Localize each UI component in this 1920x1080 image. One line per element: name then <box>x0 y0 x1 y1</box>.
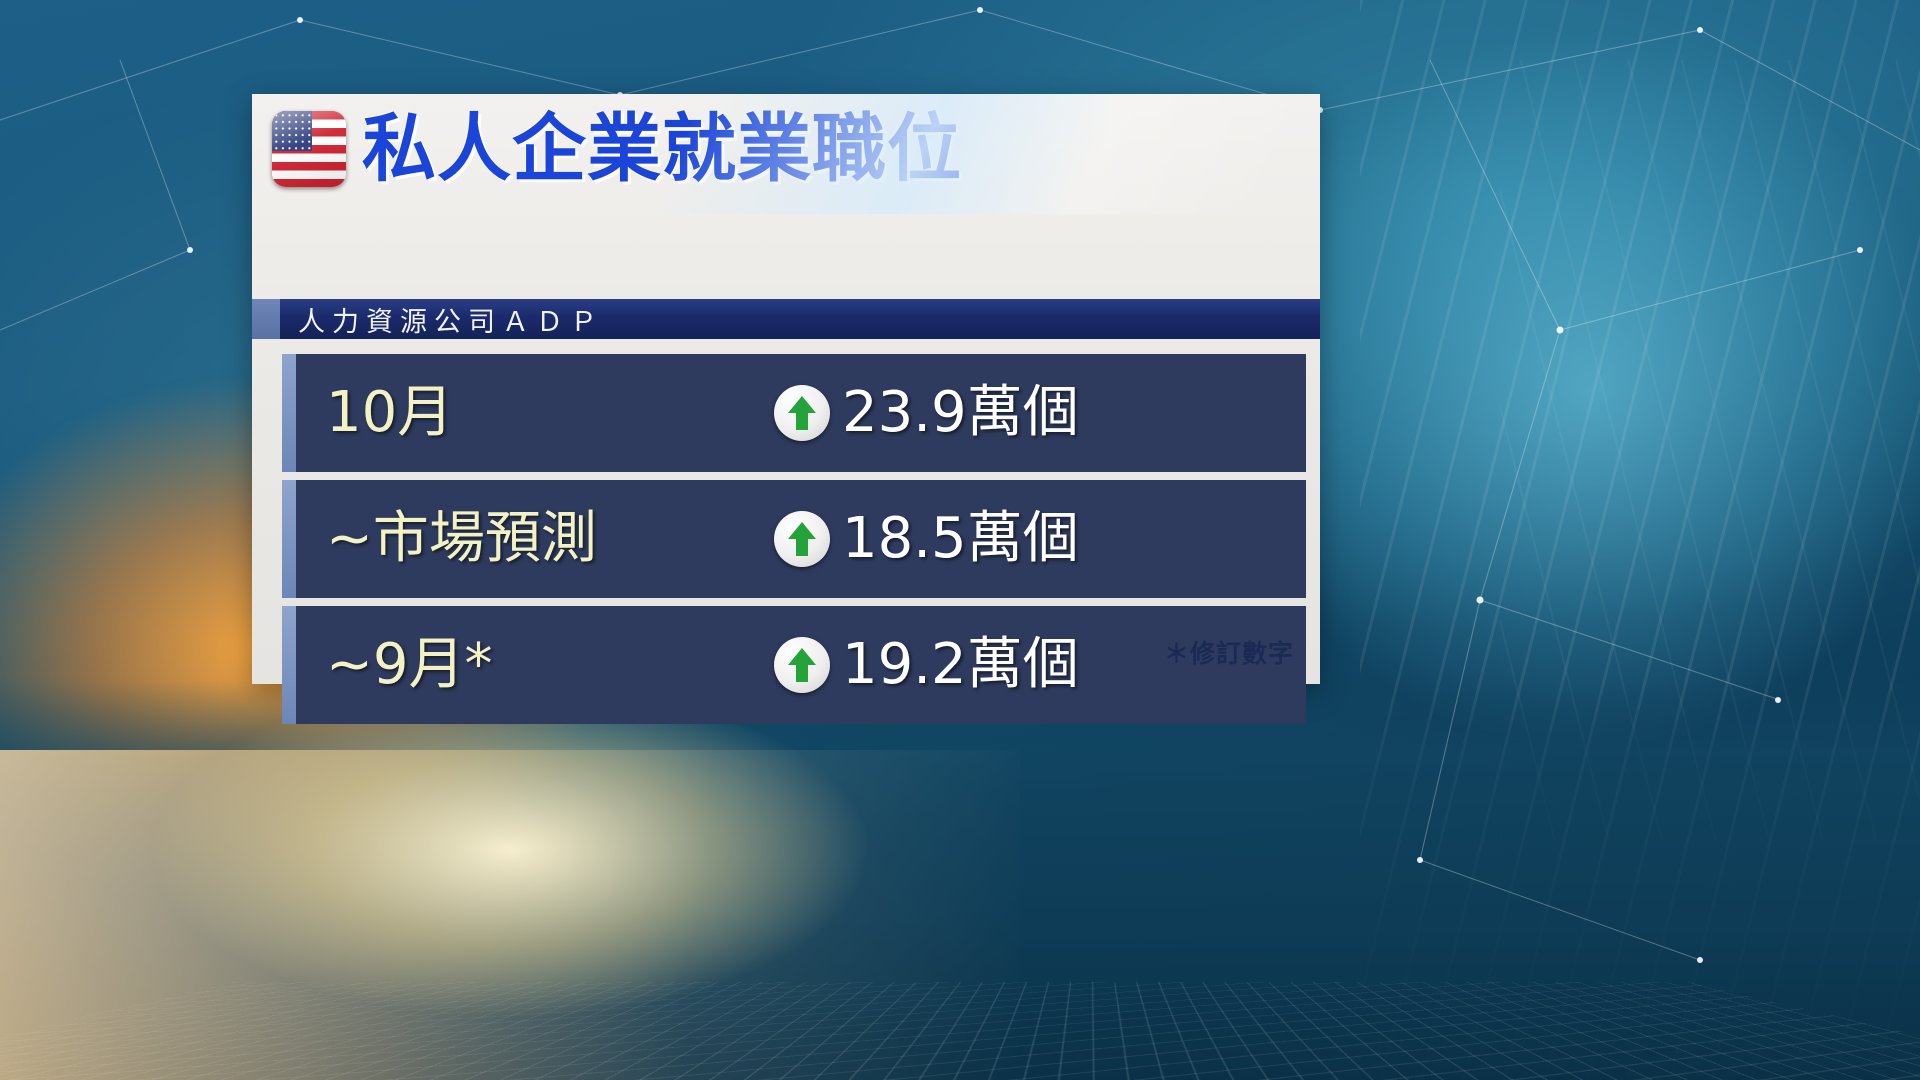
subtitle-bar: 人力資源公司ＡＤＰ <box>252 299 1320 339</box>
subtitle-label: 人力資源公司ＡＤＰ <box>298 300 604 339</box>
info-panel: 私人企業就業職位 人力資源公司ＡＤＰ 10月 23.9萬個 ~市場預測 <box>252 94 1320 684</box>
row-label: ~市場預測 <box>326 509 597 569</box>
row-label: ~9月* <box>326 635 493 695</box>
row-amount: 18.5萬個 <box>842 509 1079 569</box>
row-amount: 19.2萬個 <box>842 635 1079 695</box>
footnote: ＊修訂數字 <box>1164 634 1294 670</box>
up-arrow-icon <box>774 385 830 441</box>
row-value-group: 18.5萬個 <box>774 509 1079 569</box>
table-row: ~市場預測 18.5萬個 <box>282 480 1306 598</box>
row-amount: 23.9萬個 <box>842 383 1079 443</box>
up-arrow-icon <box>774 511 830 567</box>
data-rows: 10月 23.9萬個 ~市場預測 <box>282 354 1306 732</box>
table-row: ~9月* 19.2萬個 <box>282 606 1306 724</box>
subtitle-bar-marker <box>252 299 280 339</box>
row-value-group: 19.2萬個 <box>774 635 1079 695</box>
panel-header: 私人企業就業職位 <box>252 94 1320 204</box>
us-flag-icon <box>272 111 346 187</box>
page-title: 私人企業就業職位 <box>362 109 962 189</box>
broadcast-graphic-stage: 私人企業就業職位 人力資源公司ＡＤＰ 10月 23.9萬個 ~市場預測 <box>0 0 1920 1080</box>
table-row: 10月 23.9萬個 <box>282 354 1306 472</box>
row-value-group: 23.9萬個 <box>774 383 1079 443</box>
row-label: 10月 <box>326 383 453 443</box>
up-arrow-icon <box>774 637 830 693</box>
